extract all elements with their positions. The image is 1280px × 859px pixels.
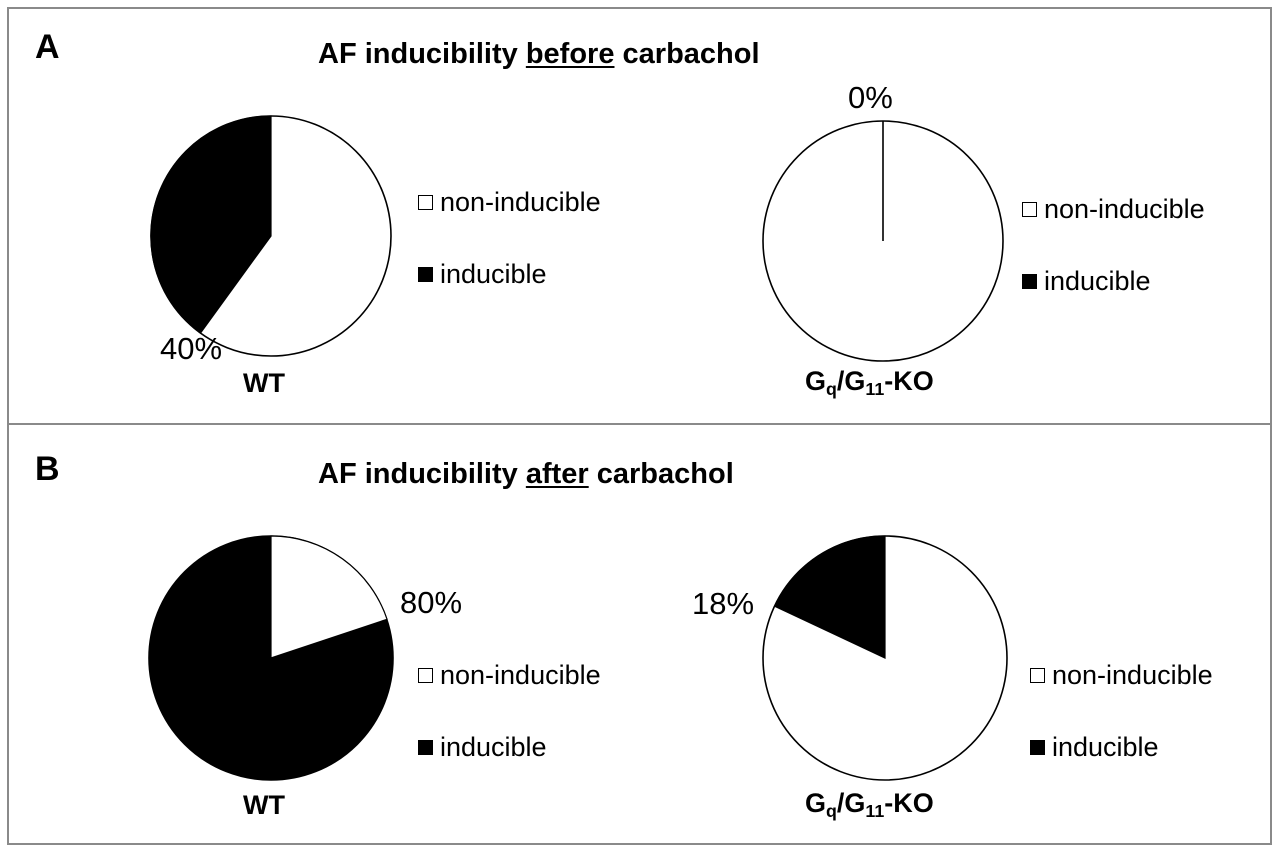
- pie-b-wt-percent-label: 80%: [400, 587, 462, 618]
- pie-a-ko-group-label: Gq/G11-KO: [805, 368, 934, 395]
- pie-a-ko-group-label-ko: -KO: [884, 366, 934, 396]
- panel-title-a-prefix: AF inducibility: [318, 38, 526, 70]
- pie-b-wt-group-label: WT: [243, 792, 285, 819]
- filled-square-icon: [418, 740, 433, 755]
- pie-chart-a-wt: [148, 113, 394, 359]
- pie-b-ko-group-label-ko: -KO: [884, 788, 934, 818]
- pie-a-ko-group-label-sub-11: 11: [865, 379, 884, 399]
- legend-b-ko: non-inducible inducible: [1030, 658, 1213, 764]
- legend-label-inducible: inducible: [440, 734, 547, 761]
- figure-root: A AF inducibility before carbachol 40% W…: [0, 0, 1280, 859]
- pie-b-ko-group-label: Gq/G11-KO: [805, 790, 934, 817]
- pie-b-wt-group-label-text: WT: [243, 790, 285, 820]
- legend-label-inducible: inducible: [1052, 734, 1159, 761]
- legend-a-wt: non-inducible inducible: [418, 185, 601, 291]
- open-square-icon: [1022, 202, 1037, 217]
- open-square-icon: [418, 195, 433, 210]
- pie-a-ko-percent-label: 0%: [848, 82, 893, 113]
- pie-a-ko-group-label-g: G: [805, 366, 826, 396]
- pie-a-wt-group-label-text: WT: [243, 368, 285, 398]
- pie-b-ko-group-label-g: G: [805, 788, 826, 818]
- panel-divider: [9, 423, 1270, 425]
- legend-label-non-inducible: non-inducible: [1044, 196, 1205, 223]
- pie-a-ko-group-label-slash-g: /G: [837, 366, 866, 396]
- pie-chart-b-wt: [146, 533, 396, 783]
- legend-label-non-inducible: non-inducible: [1052, 662, 1213, 689]
- panel-title-b-suffix: carbachol: [589, 458, 734, 490]
- panel-title-b-prefix: AF inducibility: [318, 458, 526, 490]
- pie-b-ko-percent-label: 18%: [692, 588, 754, 619]
- legend-item-inducible: inducible: [418, 730, 601, 764]
- pie-a-ko-group-label-sub-q: q: [826, 379, 837, 399]
- pie-b-ko-group-label-slash-g: /G: [837, 788, 866, 818]
- open-square-icon: [1030, 668, 1045, 683]
- panel-title-a: AF inducibility before carbachol: [318, 40, 760, 69]
- open-square-icon: [418, 668, 433, 683]
- panel-title-b-emphasis: after: [526, 458, 589, 490]
- legend-item-inducible: inducible: [1022, 264, 1205, 298]
- legend-label-inducible: inducible: [440, 261, 547, 288]
- pie-a-wt-percent-label: 40%: [160, 333, 222, 364]
- legend-label-non-inducible: non-inducible: [440, 662, 601, 689]
- panel-letter-a: A: [35, 30, 60, 64]
- filled-square-icon: [418, 267, 433, 282]
- legend-label-non-inducible: non-inducible: [440, 189, 601, 216]
- pie-chart-a-ko: [760, 118, 1006, 364]
- pie-a-wt-group-label: WT: [243, 370, 285, 397]
- legend-item-inducible: inducible: [1030, 730, 1213, 764]
- panel-title-a-suffix: carbachol: [614, 38, 759, 70]
- pie-chart-b-ko: [760, 533, 1010, 783]
- legend-a-ko: non-inducible inducible: [1022, 192, 1205, 298]
- legend-item-inducible: inducible: [418, 257, 601, 291]
- legend-item-non-inducible: non-inducible: [1030, 658, 1213, 692]
- legend-item-non-inducible: non-inducible: [1022, 192, 1205, 226]
- panel-title-a-emphasis: before: [526, 38, 615, 70]
- panel-letter-b: B: [35, 452, 60, 486]
- legend-b-wt: non-inducible inducible: [418, 658, 601, 764]
- legend-label-inducible: inducible: [1044, 268, 1151, 295]
- filled-square-icon: [1030, 740, 1045, 755]
- panel-title-b: AF inducibility after carbachol: [318, 460, 734, 489]
- pie-b-ko-group-label-sub-q: q: [826, 801, 837, 821]
- filled-square-icon: [1022, 274, 1037, 289]
- pie-b-ko-group-label-sub-11: 11: [865, 801, 884, 821]
- legend-item-non-inducible: non-inducible: [418, 185, 601, 219]
- legend-item-non-inducible: non-inducible: [418, 658, 601, 692]
